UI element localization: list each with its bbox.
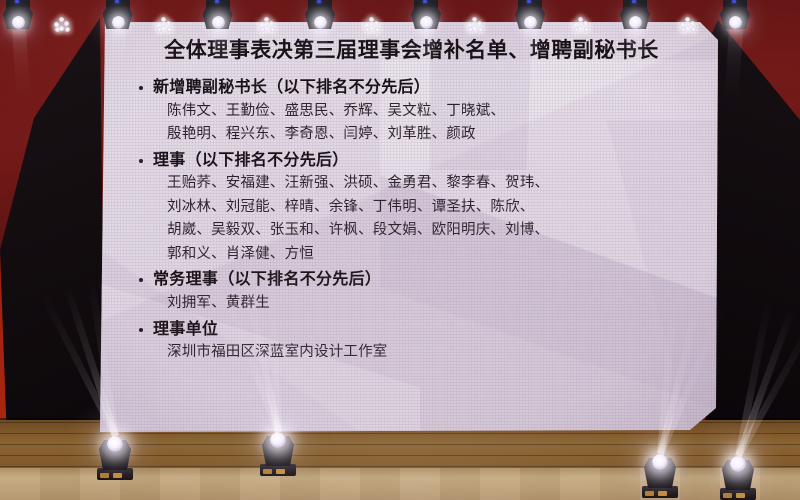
screen-vignette: [0, 0, 800, 500]
overhead-moving-head-light: [3, 0, 33, 32]
overhead-led-cluster-light: [54, 17, 71, 32]
overhead-led-cluster-light: [573, 17, 590, 32]
power-connector-icon: [723, 493, 732, 498]
dmx-connector-icon: [658, 491, 667, 496]
light-lens-icon: [270, 432, 286, 448]
power-connector-icon: [263, 469, 272, 474]
light-status-led-icon: [732, 0, 736, 3]
overhead-moving-head-light: [103, 0, 133, 32]
overhead-led-cluster-light: [156, 17, 173, 32]
light-lens-icon: [107, 436, 123, 452]
light-status-led-icon: [632, 0, 636, 3]
overhead-led-cluster-light: [259, 17, 276, 32]
light-status-led-icon: [215, 0, 219, 3]
floor-moving-head-light: [258, 424, 298, 476]
light-status-led-icon: [423, 0, 427, 3]
light-lens-icon: [629, 16, 642, 29]
overhead-moving-head-light: [620, 0, 650, 32]
light-lens-icon: [314, 16, 327, 29]
floor-moving-head-light: [718, 448, 758, 500]
light-status-led-icon: [317, 0, 321, 3]
dmx-connector-icon: [113, 473, 122, 478]
light-lens-icon: [212, 16, 225, 29]
dmx-connector-icon: [736, 493, 745, 498]
power-connector-icon: [100, 473, 109, 478]
light-status-led-icon: [15, 0, 19, 3]
light-lens-icon: [652, 454, 668, 470]
light-lens-icon: [112, 16, 125, 29]
light-status-led-icon: [527, 0, 531, 3]
overhead-led-cluster-light: [467, 17, 484, 32]
light-lens-icon: [524, 16, 537, 29]
overhead-moving-head-light: [203, 0, 233, 32]
overhead-led-cluster-light: [680, 17, 697, 32]
light-lens-icon: [420, 16, 433, 29]
overhead-moving-head-light: [720, 0, 750, 32]
power-connector-icon: [645, 491, 654, 496]
overhead-moving-head-light: [411, 0, 441, 32]
overhead-moving-head-light: [515, 0, 545, 32]
floor-moving-head-light: [640, 446, 680, 498]
light-lens-icon: [730, 456, 746, 472]
light-lens-icon: [729, 16, 742, 29]
led-screen: 全体理事表决第三届理事会增补名单、增聘副秘书长 新增聘副秘书长（以下排名不分先后…: [0, 0, 800, 500]
stage-scene: 全体理事表决第三届理事会增补名单、增聘副秘书长 新增聘副秘书长（以下排名不分先后…: [0, 0, 800, 500]
dmx-connector-icon: [276, 469, 285, 474]
overhead-moving-head-light: [305, 0, 335, 32]
light-lens-icon: [12, 16, 25, 29]
light-status-led-icon: [115, 0, 119, 3]
floor-moving-head-light: [95, 428, 135, 480]
overhead-light-truss: [0, 0, 800, 40]
overhead-led-cluster-light: [364, 17, 381, 32]
